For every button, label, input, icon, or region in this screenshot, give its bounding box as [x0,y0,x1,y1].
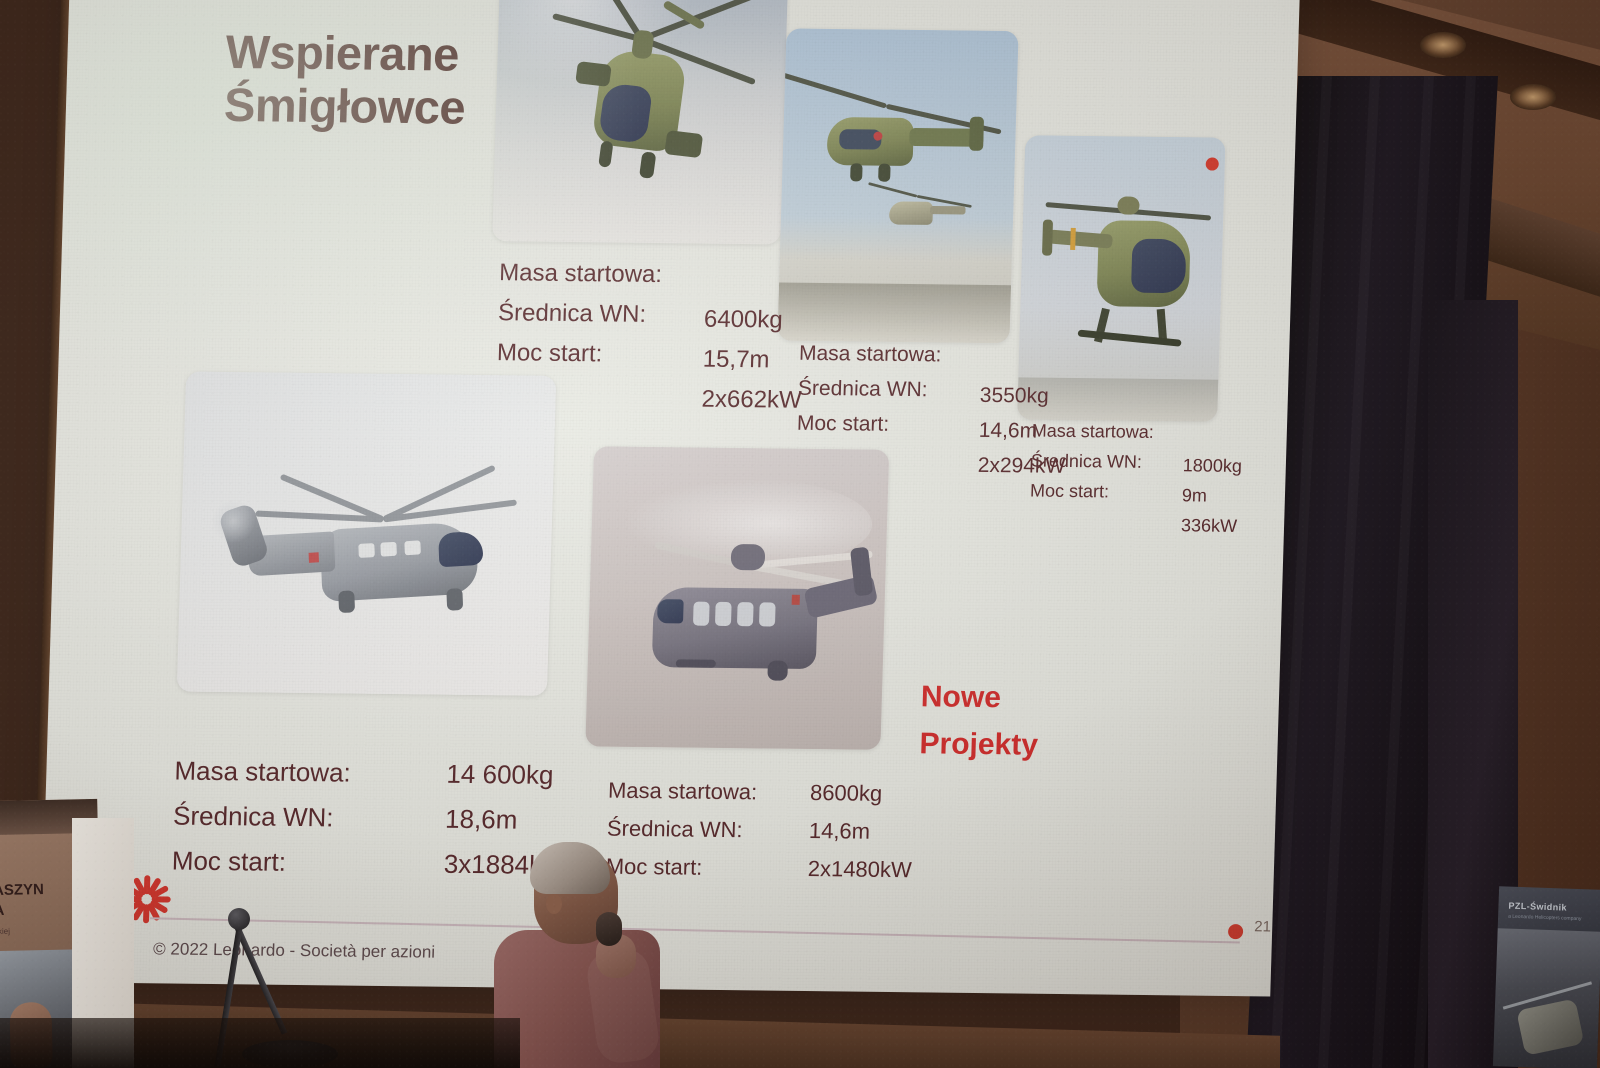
helicopter-photo-aw149 [585,446,889,749]
spec-value-mass: 6400kg [703,300,804,341]
callout-nowe-projekty: Nowe Projekty [919,674,1102,769]
copyright-text: © 2022 Leonardo - Società per azioni [153,939,435,962]
helicopter-silhouette [543,0,742,194]
spec-value-power: 2x1480kW [807,850,912,889]
helicopter-photo-aw101 [177,372,556,696]
footer-accent-dot [1228,924,1243,939]
spec-label-power: Moc start: [796,406,939,443]
slide-number: 21 [1254,918,1271,935]
spec-value-mass: 1800kg [1182,450,1242,481]
spec-value-rotor: 18,6m [444,797,568,843]
helicopter-silhouette [617,527,872,700]
spec-label-power: Moc start: [1030,476,1153,507]
spec-label-rotor: Średnica WN: [172,794,350,841]
roll-up-banner-right: PZL-Świdnik a Leonardo Helicopters compa… [1493,886,1600,1068]
spec-value-power: 2x662kW [701,380,802,421]
foreground-shadow [0,1018,520,1068]
helicopter-photo-mi2 [777,28,1018,343]
spec-value-rotor: 9m [1182,480,1242,511]
banner-right-logo: PZL-Świdnik [1508,901,1567,913]
helicopter-silhouette [1037,184,1210,366]
banner-left-subtitle: skiej [0,927,10,936]
helicopter-silhouette [206,473,522,641]
handheld-microphone-icon [596,912,622,946]
slide-content: Wspierane Śmigłowce [40,0,1300,997]
banner-right-subtitle: a Leonardo Helicopters company [1508,914,1582,923]
spec-label-power: Moc start: [496,333,660,375]
recessed-ceiling-light [1510,84,1556,110]
spec-label-rotor: Średnica WN: [497,293,661,335]
spec-value-mass: 3550kg [979,378,1068,414]
spec-label-rotor: Średnica WN: [797,371,940,408]
spec-label-mass: Masa startowa: [607,772,757,812]
spec-value-rotor: 14,6m [808,812,913,851]
banner-left-text: ASZYN A [0,880,45,921]
footer-divider [150,917,1240,943]
projection-screen: Wspierane Śmigłowce [40,0,1300,997]
spec-label-power: Moc start: [171,839,349,886]
spec-value-rotor: 15,7m [702,340,803,381]
spec-value-mass: 14 600kg [446,752,570,798]
callout-line-2: Projekty [919,721,1100,770]
spec-label-mass: Masa startowa: [499,253,663,295]
callout-line-1: Nowe [920,674,1101,723]
microphone-head-icon [228,908,250,930]
recessed-ceiling-light [1420,32,1466,58]
helicopter-silhouette-secondary [885,188,961,236]
helicopter-photo-w3 [492,0,789,244]
spec-label-mass: Masa startowa: [174,749,352,796]
spec-value-mass: 8600kg [809,774,914,813]
spec-label-rotor: Średnica WN: [1030,446,1153,477]
conference-room-photo: Wspierane Śmigłowce [0,0,1600,1068]
spec-label-mass: Masa startowa: [1031,416,1154,447]
spec-value-power: 336kW [1181,510,1241,541]
spec-label-mass: Masa startowa: [798,336,941,373]
helicopter-silhouette [816,87,989,199]
